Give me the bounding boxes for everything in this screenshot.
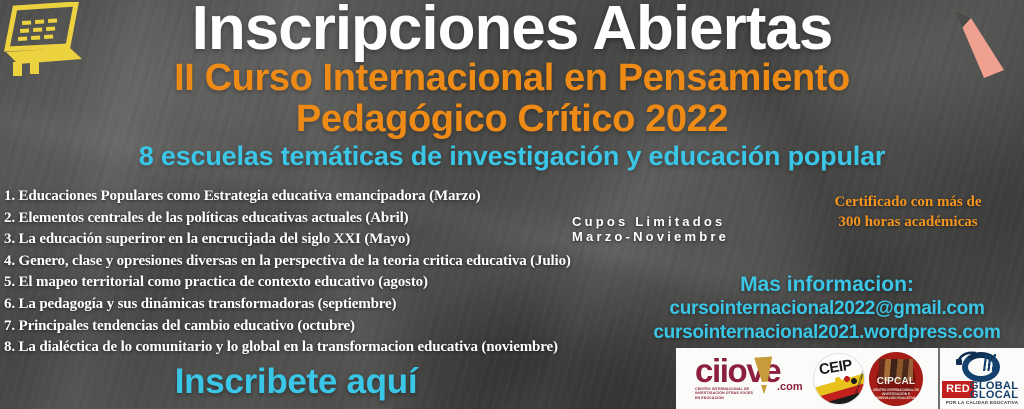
poster-canvas: Inscripciones Abiertas II Curso Internac…	[0, 0, 1024, 409]
cipcal-logo: CIPCAL CENTRO INTERNACIONAL DE INVESTIGA…	[869, 352, 923, 406]
ceip-logo: CEIP CEIP HISTÓRICA	[813, 353, 865, 405]
certificado-line-2: 300 horas académicas	[800, 212, 1016, 232]
list-item: 5. El mapeo territorial como practica de…	[4, 272, 694, 294]
tagline: 8 escuelas temáticas de investigación y …	[0, 141, 1024, 171]
contact-block: Mas informacion: cursointernacional2022@…	[632, 272, 1022, 345]
list-item: 7. Principales tendencias del cambio edu…	[4, 316, 694, 338]
cipcal-subtitle: CENTRO INTERNACIONAL DE INVESTIGACIÓN E …	[873, 388, 919, 401]
ciiove-logo: ciiove CENTRO INTERNACIONAL DE INVESTIGA…	[691, 354, 809, 404]
cta-label: Inscribete aquí	[175, 362, 418, 401]
cupos-line-2: Marzo-Noviembre	[572, 229, 812, 244]
megaphone-accent-icon	[761, 385, 767, 394]
ceip-wordmark: CEIP	[818, 357, 853, 377]
cipcal-wordmark: CIPCAL	[869, 376, 923, 387]
contact-website[interactable]: cursointernacional2021.wordpress.com	[632, 321, 1022, 345]
logo-panel-secondary: RED GLOBAL GLOCAL POR LA CALIDAD EDUCATI…	[938, 348, 1024, 409]
bars-icon	[983, 354, 998, 371]
cupos-line-1: Cupos Limitados	[572, 214, 812, 229]
ciiove-dotcom: .com	[777, 382, 803, 393]
certificado-line-1: Certificado con más de	[800, 192, 1016, 212]
sponsor-logo-strip: ciiove CENTRO INTERNACIONAL DE INVESTIGA…	[676, 348, 1024, 409]
plug-icon	[956, 351, 978, 365]
page-title: Inscripciones Abiertas	[0, 0, 1024, 62]
cupos-limitados-note: Cupos Limitados Marzo-Noviembre	[572, 214, 812, 244]
logo-panel-primary: ciiove CENTRO INTERNACIONAL DE INVESTIGA…	[676, 348, 938, 409]
list-item: 1. Educaciones Populares como Estrategia…	[4, 186, 694, 208]
inscribete-cta[interactable]: Inscribete aquí	[96, 362, 496, 402]
red-global-glocal-logo: RED GLOBAL GLOCAL POR LA CALIDAD EDUCATI…	[942, 351, 1022, 407]
contact-label: Mas informacion:	[632, 272, 1022, 297]
certificado-note: Certificado con más de 300 horas académi…	[800, 192, 1016, 232]
list-item: 6. La pedagogía y sus dinámicas transfor…	[4, 294, 694, 316]
subtitle-line-1: II Curso Internacional en Pensamiento	[0, 58, 1024, 99]
list-item: 8. La dialéctica de lo comunitario y lo …	[4, 337, 694, 359]
contact-email[interactable]: cursointernacional2022@gmail.com	[632, 297, 1022, 321]
red-global-tagline: POR LA CALIDAD EDUCATIVA	[942, 400, 1022, 406]
list-item: 4. Genero, clase y opresiones diversas e…	[4, 251, 694, 273]
schools-list: 1. Educaciones Populares como Estrategia…	[4, 186, 694, 359]
subtitle-block: II Curso Internacional en Pensamiento Pe…	[0, 58, 1024, 171]
subtitle-line-2: Pedagógico Crítico 2022	[0, 99, 1024, 140]
ciiove-subtitle: CENTRO INTERNACIONAL DE INVESTIGACIÓN OT…	[695, 387, 753, 401]
headline-block: Inscripciones Abiertas II Curso Internac…	[0, 0, 1024, 171]
